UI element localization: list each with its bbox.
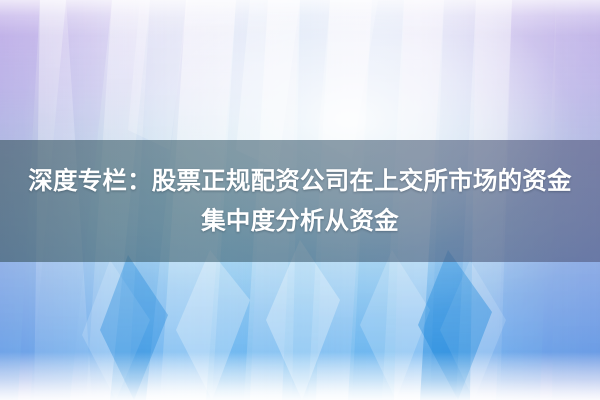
banner-image: 深度专栏：股票正规配资公司在上交所市场的资金 集中度分析从资金 (0, 0, 600, 400)
title-line-2: 集中度分析从资金 (201, 202, 399, 240)
title-line-1: 深度专栏：股票正规配资公司在上交所市场的资金 (28, 162, 571, 200)
page-title: 深度专栏：股票正规配资公司在上交所市场的资金 集中度分析从资金 (0, 140, 600, 262)
